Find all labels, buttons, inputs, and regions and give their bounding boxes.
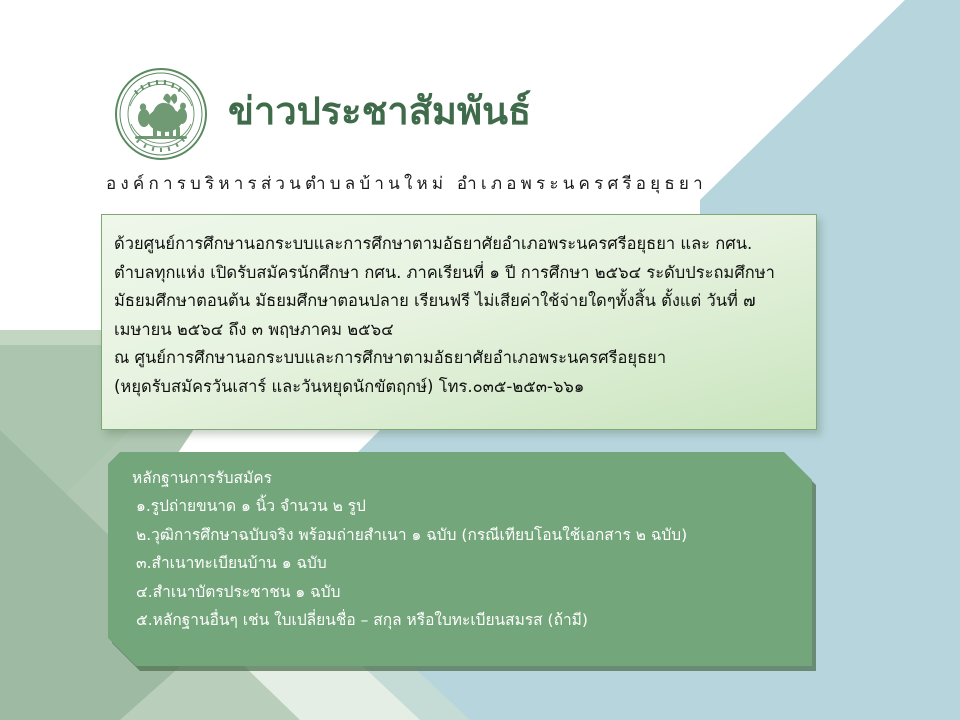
requirements-box: หลักฐานการรับสมัคร ๑.รูปถ่ายขนาด ๑ นิ้ว … [108,452,812,666]
announcement-line: ตำบลทุกแห่ง เปิดรับสมัครนักศึกษา กศน. ภา… [114,259,802,288]
announcement-line: (หยุดรับสมัครวันเสาร์ และวันหยุดนักขัตฤก… [114,373,802,402]
requirement-item: ๔.สำเนาบัตรประชาชน ๑ ฉบับ [130,578,812,606]
announcement-box: ด้วยศูนย์การศึกษานอกระบบและการศึกษาตามอั… [101,214,817,430]
requirements-heading: หลักฐานการรับสมัคร [130,464,812,492]
requirements-box-wrapper: หลักฐานการรับสมัคร ๑.รูปถ่ายขนาด ๑ นิ้ว … [108,452,812,666]
announcement-line: มัธยมศึกษาตอนต้น มัธยมศึกษาตอนปลาย เรียน… [114,287,802,316]
requirement-item: ๓.สำเนาทะเบียนบ้าน ๑ ฉบับ [130,549,812,577]
announcement-line: ณ ศูนย์การศึกษานอกระบบและการศึกษาตามอัธย… [114,344,802,373]
announcement-line: เมษายน ๒๕๖๔ ถึง ๓ พฤษภาคม ๒๕๖๔ [114,316,802,345]
organization-seal-icon [113,66,209,162]
requirement-item: ๕.หลักฐานอื่นๆ เช่น ใบเปลี่ยนชื่อ – สกุล… [130,606,812,634]
organization-subtitle: องค์การบริหารส่วนตำบลบ้านใหม่ อำเภอพระนค… [106,170,707,197]
poster-header: ข่าวประชาสัมพันธ์ องค์การบริหารส่วนตำบลบ… [0,0,960,210]
slide-canvas: ข่าวประชาสัมพันธ์ องค์การบริหารส่วนตำบลบ… [0,0,960,720]
announcement-line: ด้วยศูนย์การศึกษานอกระบบและการศึกษาตามอั… [114,230,802,259]
requirement-item: ๒.วุฒิการศึกษาฉบับจริง พร้อมถ่ายสำเนา ๑ … [130,521,812,549]
requirement-item: ๑.รูปถ่ายขนาด ๑ นิ้ว จำนวน ๒ รูป [130,492,812,520]
page-title: ข่าวประชาสัมพันธ์ [228,92,531,132]
